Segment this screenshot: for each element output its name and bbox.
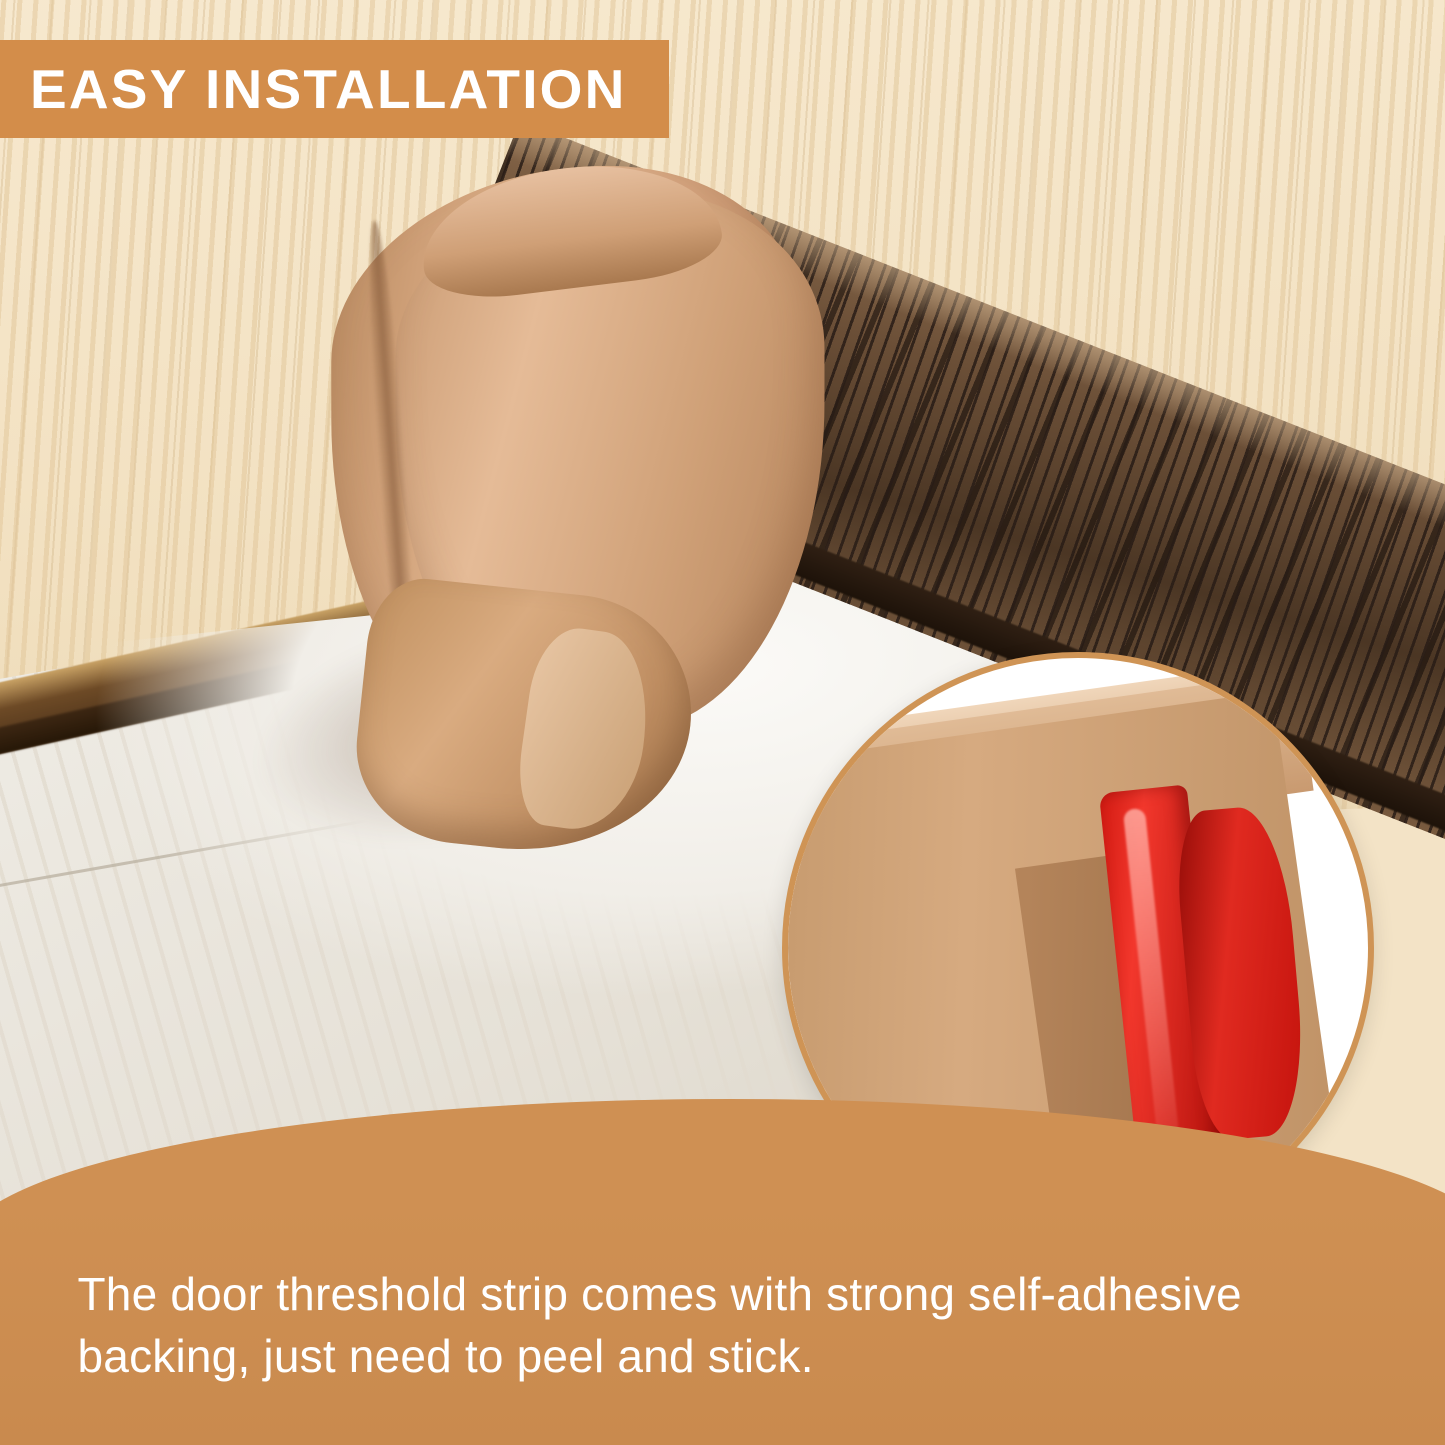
title-text: EASY INSTALLATION: [30, 62, 627, 117]
caption-band: The door threshold strip comes with stro…: [0, 1205, 1445, 1445]
title-banner: EASY INSTALLATION: [0, 40, 669, 138]
product-feature-poster: EASY INSTALLATION The door threshold str…: [0, 0, 1445, 1445]
product-photo: [0, 0, 1445, 1240]
caption-text: The door threshold strip comes with stro…: [78, 1263, 1368, 1387]
